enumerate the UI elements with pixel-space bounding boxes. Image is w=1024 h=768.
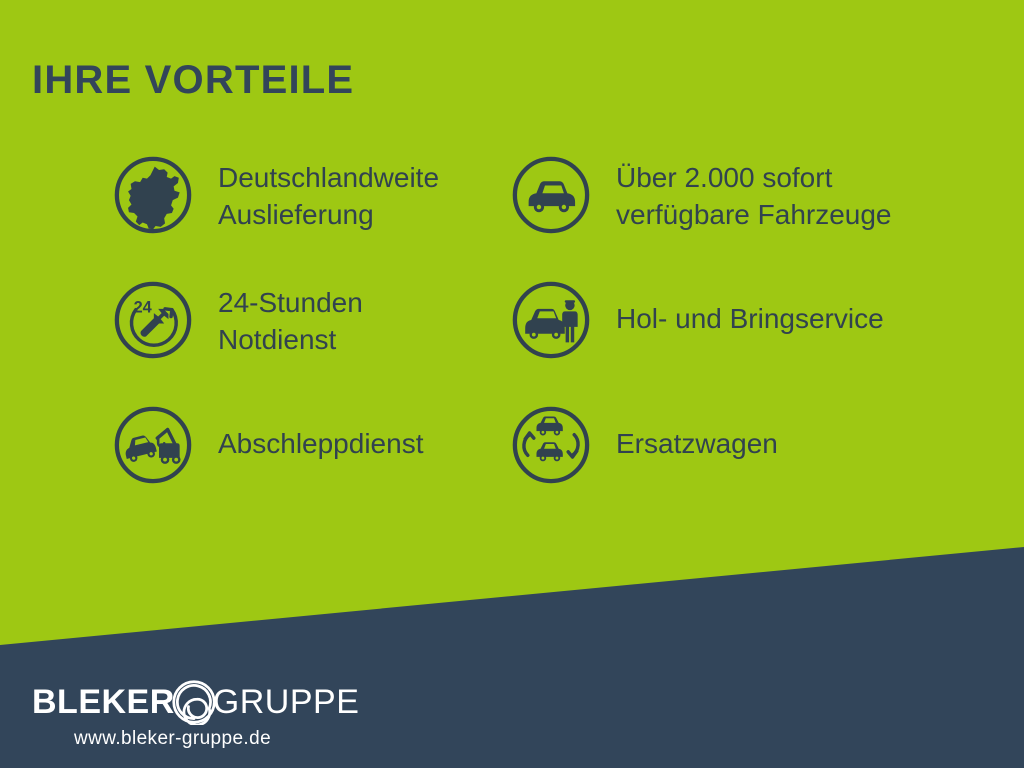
benefit-item-ersatzwagen: Ersatzwagen: [500, 400, 1000, 525]
benefits-grid: Deutschlandweite Auslieferung Über 2.000…: [0, 150, 1024, 525]
logo-name-bold: BLEKER: [32, 685, 175, 719]
slide: IHRE VORTEILE Deutschlandweite Ausliefer…: [0, 0, 1024, 768]
benefit-item-deutschlandweite-auslieferung: Deutschlandweite Auslieferung: [0, 150, 500, 275]
benefit-item-abschleppdienst: Abschleppdienst: [0, 400, 500, 525]
benefit-item-24-stunden-notdienst: 24 24-Stunden Notdienst: [0, 275, 500, 400]
germany-map-icon: [110, 152, 196, 238]
benefit-label: Hol- und Bringservice: [616, 275, 1000, 338]
spiral-circle-icon: [171, 679, 217, 725]
car-icon: [508, 152, 594, 238]
svg-text:24: 24: [134, 298, 152, 316]
car-with-person-icon: [508, 277, 594, 363]
benefit-label: 24-Stunden Notdienst: [218, 275, 500, 359]
page-title: IHRE VORTEILE: [32, 60, 354, 100]
logo-wordmark: BLEKER GRUPPE: [32, 680, 462, 724]
benefit-label: Deutschlandweite Auslieferung: [218, 150, 500, 234]
benefit-item-verfuegbare-fahrzeuge: Über 2.000 sofort verfügbare Fahrzeuge: [500, 150, 1000, 275]
logo-name-light: GRUPPE: [213, 685, 360, 719]
two-cars-exchange-icon: [508, 402, 594, 488]
benefit-label: Ersatzwagen: [616, 400, 1000, 463]
benefit-label: Abschleppdienst: [218, 400, 500, 463]
company-logo: BLEKER GRUPPE www.bleker-gruppe.de: [32, 680, 462, 750]
24-hour-wrench-icon: 24: [110, 277, 196, 363]
benefit-item-hol-und-bringservice: Hol- und Bringservice: [500, 275, 1000, 400]
website-url: www.bleker-gruppe.de: [74, 728, 462, 750]
benefit-label: Über 2.000 sofort verfügbare Fahrzeuge: [616, 150, 1000, 234]
tow-truck-icon: [110, 402, 196, 488]
